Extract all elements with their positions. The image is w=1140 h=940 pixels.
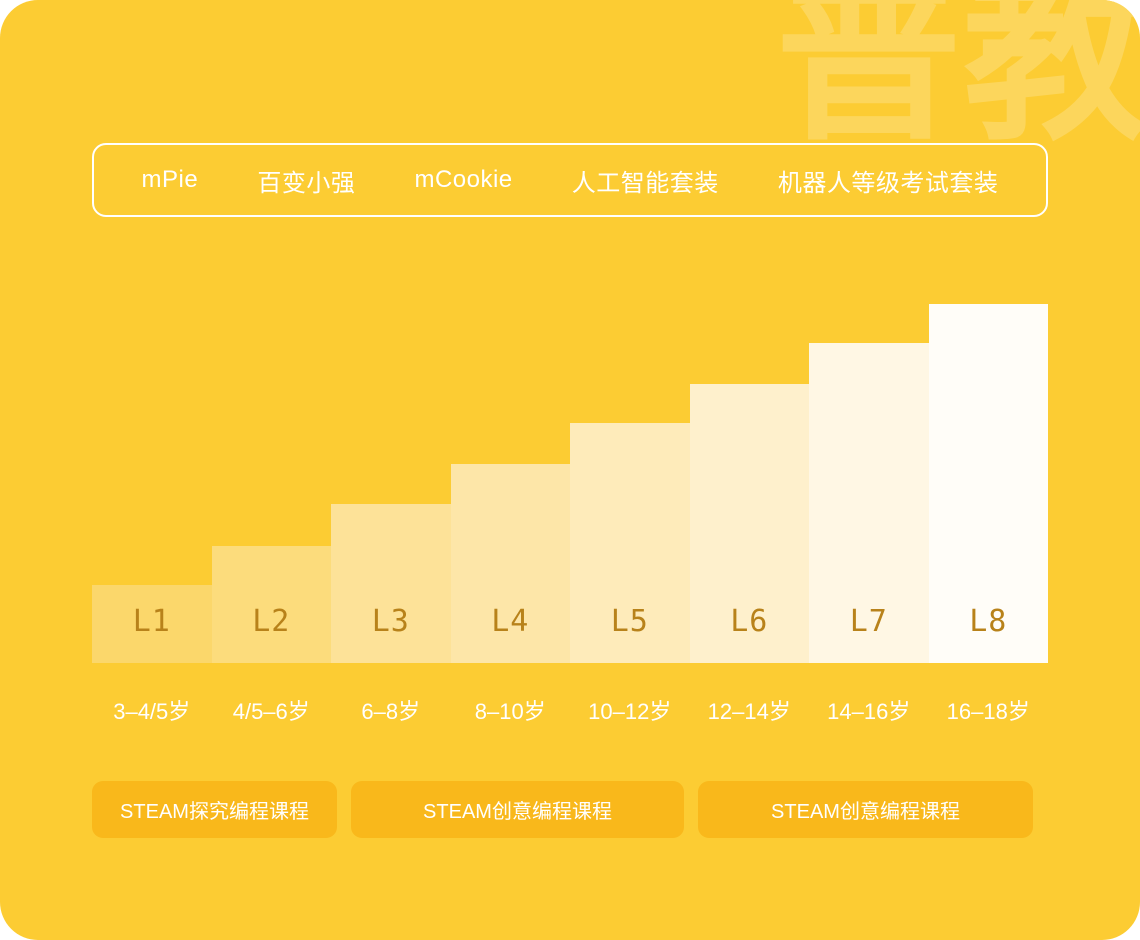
bar-l4: L4 (451, 295, 571, 663)
bar-fill-l8: L8 (929, 304, 1049, 663)
bar-l7: L7 (809, 295, 929, 663)
bar-label-l6: L6 (730, 604, 768, 663)
bar-label-l3: L3 (372, 604, 410, 663)
age-label-l8: 16–18岁 (929, 694, 1049, 726)
age-range-axis: 3–4/5岁 4/5–6岁 6–8岁 8–10岁 10–12岁 12–14岁 1… (92, 694, 1048, 726)
bar-fill-l1: L1 (92, 585, 212, 663)
bar-label-l2: L2 (252, 604, 290, 663)
course-button-steam-creative-2[interactable]: STEAM创意编程课程 (698, 781, 1033, 838)
age-label-l6: 12–14岁 (690, 694, 810, 726)
level-bar-chart: L1 L2 L3 L4 L5 L6 (92, 295, 1048, 663)
product-tab-bar: mPie 百变小强 mCookie 人工智能套装 机器人等级考试套装 (92, 143, 1048, 217)
bar-fill-l2: L2 (212, 546, 332, 663)
bar-fill-l5: L5 (570, 423, 690, 663)
bar-label-l7: L7 (850, 604, 888, 663)
bar-l2: L2 (212, 295, 332, 663)
tab-mpie[interactable]: mPie (142, 166, 199, 194)
course-button-row: STEAM探究编程课程 STEAM创意编程课程 STEAM创意编程课程 (92, 781, 1048, 838)
watermark-text: 普教 (776, 0, 1140, 151)
course-button-steam-creative-1[interactable]: STEAM创意编程课程 (351, 781, 684, 838)
tab-mcookie[interactable]: mCookie (414, 166, 512, 194)
bar-label-l4: L4 (491, 604, 529, 663)
tab-robot-exam-kit[interactable]: 机器人等级考试套装 (778, 163, 999, 198)
bar-fill-l7: L7 (809, 343, 929, 663)
bar-l3: L3 (331, 295, 451, 663)
bar-l8: L8 (929, 295, 1049, 663)
bar-l1: L1 (92, 295, 212, 663)
age-label-l5: 10–12岁 (570, 694, 690, 726)
age-label-l3: 6–8岁 (331, 694, 451, 726)
bar-l6: L6 (690, 295, 810, 663)
bar-l5: L5 (570, 295, 690, 663)
course-button-steam-inquiry[interactable]: STEAM探究编程课程 (92, 781, 337, 838)
course-level-card: 普教 mPie 百变小强 mCookie 人工智能套装 机器人等级考试套装 L1… (0, 0, 1140, 940)
bar-label-l1: L1 (133, 604, 171, 663)
bar-label-l8: L8 (969, 604, 1007, 663)
age-label-l4: 8–10岁 (451, 694, 571, 726)
bar-label-l5: L5 (611, 604, 649, 663)
age-label-l7: 14–16岁 (809, 694, 929, 726)
tab-ai-kit[interactable]: 人工智能套装 (572, 163, 719, 198)
tab-baibianxiaoqiang[interactable]: 百变小强 (257, 163, 355, 198)
bar-fill-l6: L6 (690, 384, 810, 663)
age-label-l2: 4/5–6岁 (212, 694, 332, 726)
bar-fill-l3: L3 (331, 504, 451, 663)
age-label-l1: 3–4/5岁 (92, 694, 212, 726)
bar-fill-l4: L4 (451, 464, 571, 663)
